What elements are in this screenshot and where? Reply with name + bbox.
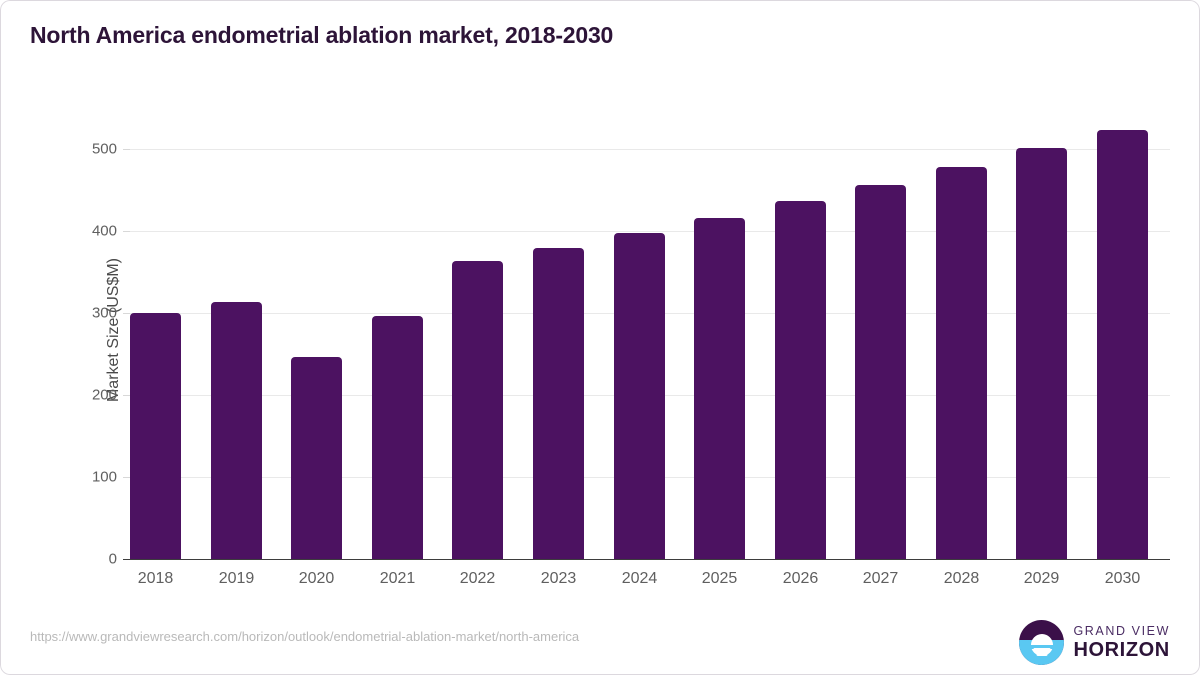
x-tick-label-2021: 2021: [372, 570, 423, 588]
plot-area: Market Size (US$M) 0100200300400500 2018…: [130, 100, 1170, 559]
y-tick-mark: [123, 313, 130, 314]
x-tick-label-2023: 2023: [533, 570, 584, 588]
gridline: [130, 149, 1170, 150]
bar-2023[interactable]: [533, 248, 584, 559]
x-tick-label-2020: 2020: [291, 570, 342, 588]
y-tick-mark: [123, 231, 130, 232]
bar-2022[interactable]: [452, 261, 503, 559]
bar-2024[interactable]: [614, 233, 665, 559]
x-tick-label-2025: 2025: [694, 570, 745, 588]
page-title: North America endometrial ablation marke…: [30, 22, 613, 49]
x-tick-label-2018: 2018: [130, 570, 181, 588]
y-tick-label: 200: [92, 387, 117, 404]
bar-2028[interactable]: [936, 167, 987, 559]
bar-2018[interactable]: [130, 313, 181, 559]
y-tick-label: 300: [92, 305, 117, 322]
logo-line-1: GRAND VIEW: [1073, 625, 1170, 638]
y-tick-label: 400: [92, 223, 117, 240]
source-url[interactable]: https://www.grandviewresearch.com/horizo…: [30, 629, 579, 644]
horizon-sun-icon: [1019, 620, 1064, 665]
x-tick-label-2029: 2029: [1016, 570, 1067, 588]
bar-2026[interactable]: [775, 201, 826, 559]
brand-logo[interactable]: GRAND VIEW HORIZON: [1019, 620, 1170, 665]
bar-2020[interactable]: [291, 357, 342, 559]
x-tick-label-2030: 2030: [1097, 570, 1148, 588]
x-tick-label-2028: 2028: [936, 570, 987, 588]
y-tick-mark: [123, 395, 130, 396]
y-tick-mark: [123, 149, 130, 150]
logo-ray-1: [1033, 648, 1050, 651]
logo-line-2: HORIZON: [1073, 640, 1170, 660]
y-tick-label: 500: [92, 141, 117, 158]
bar-2025[interactable]: [694, 218, 745, 559]
bar-2021[interactable]: [372, 316, 423, 559]
logo-wordmark: GRAND VIEW HORIZON: [1073, 625, 1170, 661]
x-tick-label-2027: 2027: [855, 570, 906, 588]
y-tick-label: 0: [109, 551, 117, 568]
y-axis-title: Market Size (US$M): [105, 257, 123, 401]
bar-2027[interactable]: [855, 185, 906, 559]
chart-card: North America endometrial ablation marke…: [0, 0, 1200, 675]
y-tick-label: 100: [92, 469, 117, 486]
logo-ray-2: [1036, 653, 1047, 656]
x-tick-label-2026: 2026: [775, 570, 826, 588]
x-tick-label-2019: 2019: [211, 570, 262, 588]
bar-2019[interactable]: [211, 302, 262, 559]
gridline: [130, 231, 1170, 232]
y-tick-mark: [123, 477, 130, 478]
bar-2029[interactable]: [1016, 148, 1067, 559]
x-tick-label-2024: 2024: [614, 570, 665, 588]
x-tick-label-2022: 2022: [452, 570, 503, 588]
bar-2030[interactable]: [1097, 130, 1148, 559]
